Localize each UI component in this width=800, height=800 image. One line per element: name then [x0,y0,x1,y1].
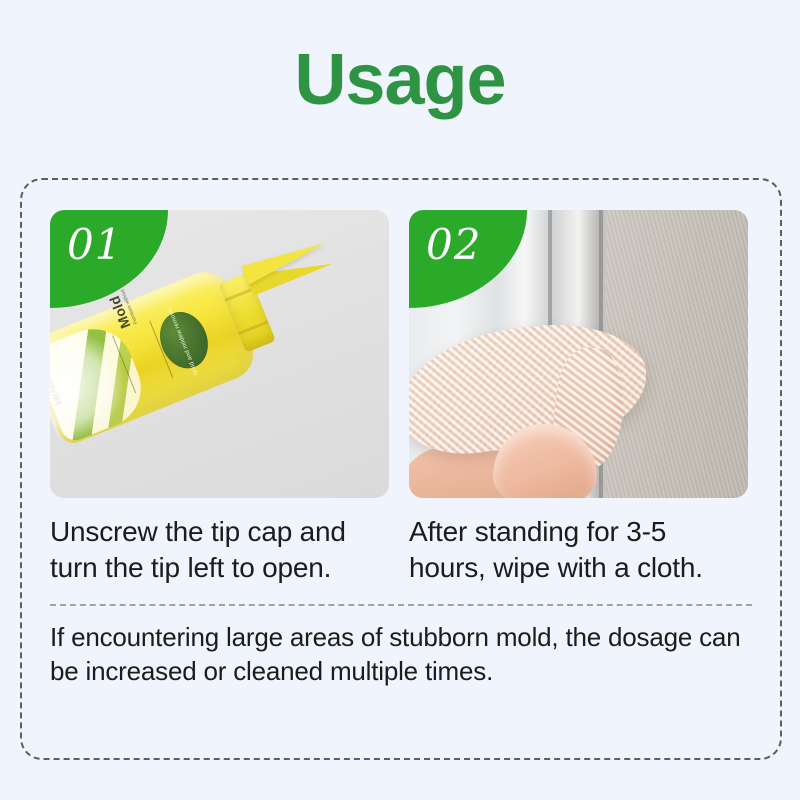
step-02-caption: After standing for 3-5 hours, wipe with … [409,514,748,586]
step-02-photo: 02 [409,210,748,498]
step-card-02: 02 After standing for 3-5 hours, wipe wi… [409,210,748,586]
step-card-01: Mold removal gel Furniture without mold … [50,210,389,586]
tube-label-rule-left [112,335,136,393]
step-number-label-02: 02 [426,224,481,266]
step-number-label-01: 01 [67,224,122,266]
step-01-photo: Mold removal gel Furniture without mold … [50,210,389,498]
usage-steps-panel: Mold removal gel Furniture without mold … [20,178,782,760]
footnote-divider [50,604,752,606]
page-title: Usage [0,0,800,125]
steps-row: Mold removal gel Furniture without mold … [50,210,752,586]
step-01-caption: Unscrew the tip cap and turn the tip lef… [50,514,389,586]
usage-footnote: If encountering large areas of stubborn … [50,620,752,689]
tube-brand-text: kitchen [50,376,64,406]
